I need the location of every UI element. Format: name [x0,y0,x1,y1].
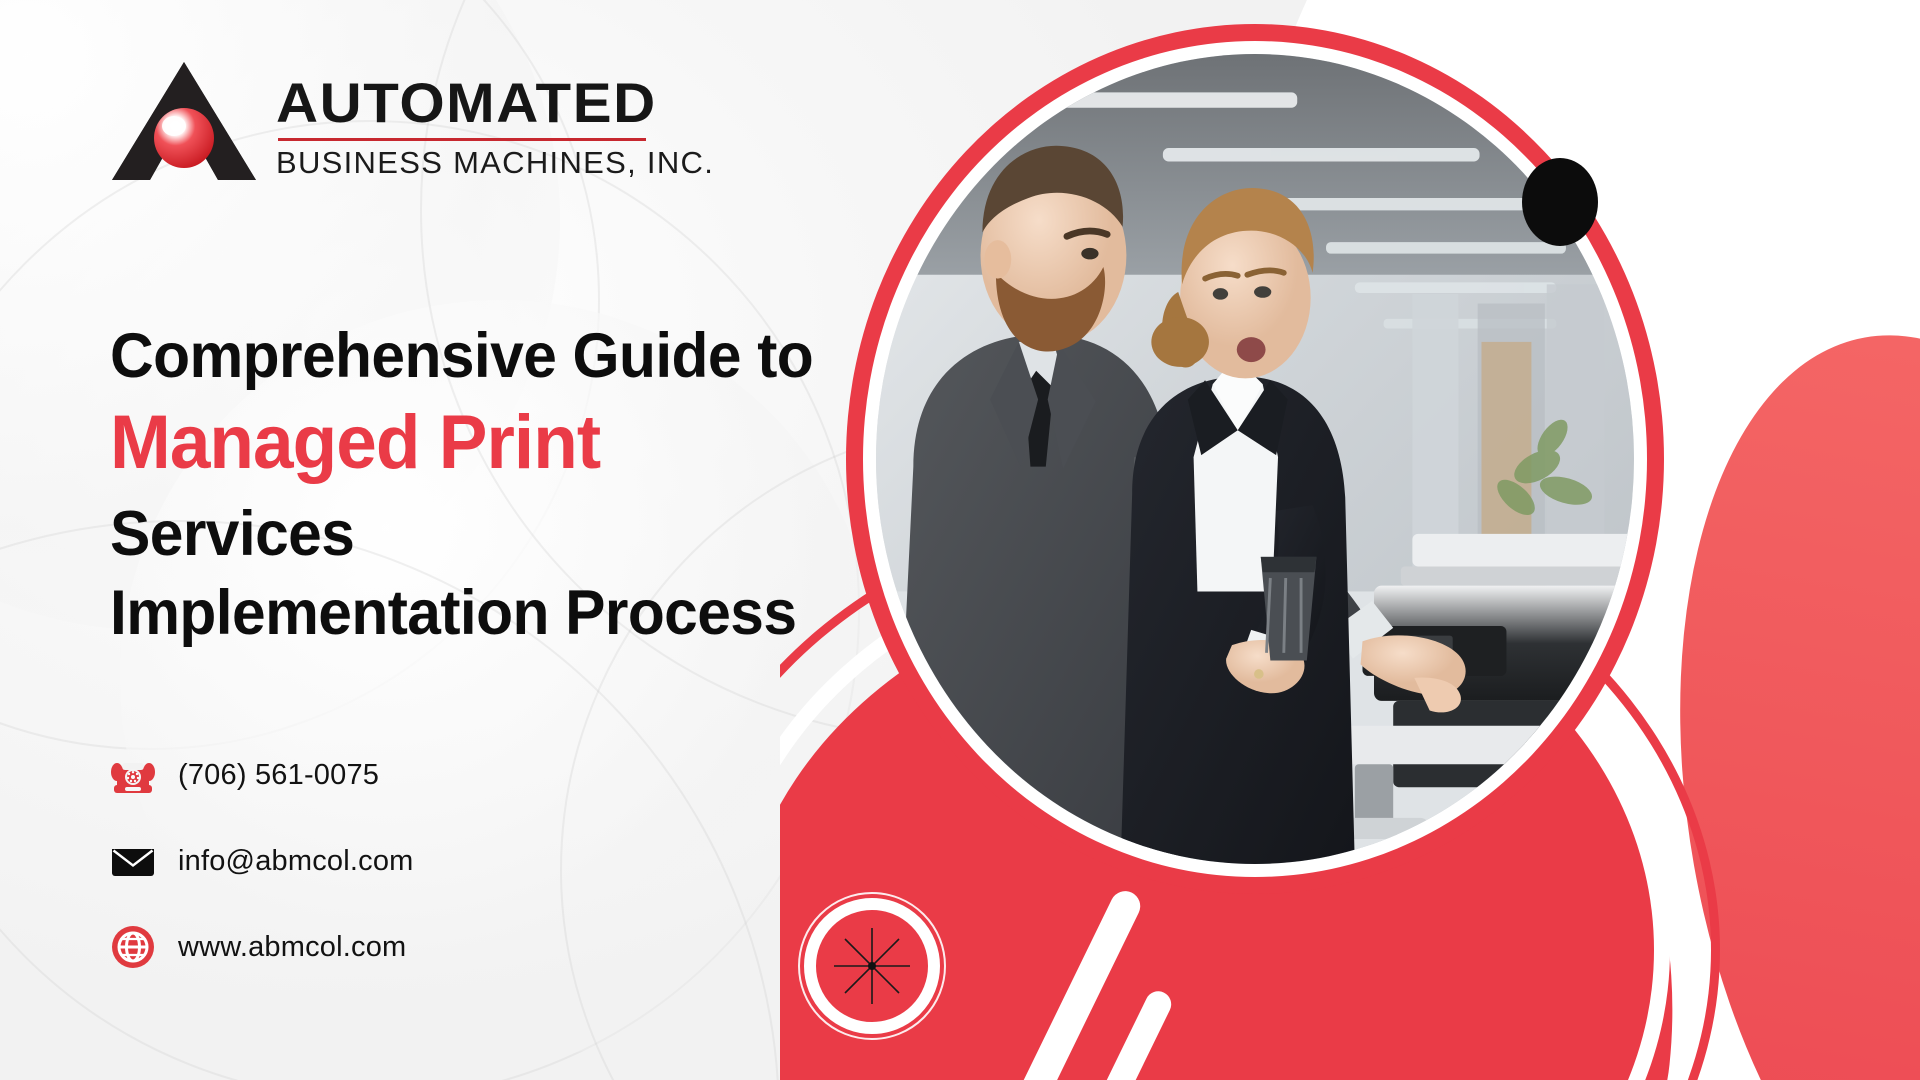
email-address: info@abmcol.com [178,845,414,878]
website-url: www.abmcol.com [178,931,406,964]
envelope-icon [110,838,156,884]
triangle-a-with-red-sphere-icon [110,60,258,182]
logo-primary-text: AUTOMATED [276,76,732,131]
contact-list: (706) 561-0075 info@abmcol.com [110,752,414,970]
contact-website[interactable]: www.abmcol.com [110,924,414,970]
black-circle-dot [1522,158,1598,246]
logo-secondary-text: BUSINESS MACHINES, INC. [276,147,714,178]
contact-email[interactable]: info@abmcol.com [110,838,414,884]
headline-line-3: Services [110,498,974,571]
company-logo[interactable]: AUTOMATED BUSINESS MACHINES, INC. [110,60,714,182]
headline-line-4: Implementation Process [110,577,974,650]
telephone-icon [110,752,156,798]
banner-canvas: AUTOMATED BUSINESS MACHINES, INC. Compre… [0,0,1920,1080]
contact-phone[interactable]: (706) 561-0075 [110,752,414,798]
left-content: AUTOMATED BUSINESS MACHINES, INC. Compre… [0,0,1060,1080]
headline-line-2: Managed Print [110,397,974,490]
phone-number: (706) 561-0075 [178,759,379,792]
logo-wordmark: AUTOMATED BUSINESS MACHINES, INC. [276,76,714,182]
page-title: Comprehensive Guide to Managed Print Ser… [110,320,1010,650]
headline-line-1: Comprehensive Guide to [110,320,974,393]
globe-icon [110,924,156,970]
logo-red-rule [278,138,646,141]
